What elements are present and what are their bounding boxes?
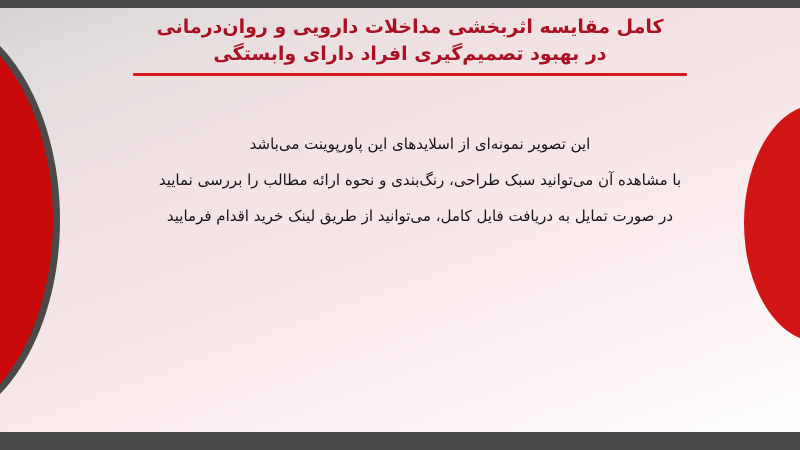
- slide-body-text: این تصویر نمونه‌ای از اسلایدهای این پاور…: [120, 126, 720, 234]
- title-line-1: کامل مقایسه اثربخشی مداخلات دارویی و روا…: [110, 14, 710, 41]
- right-red-oval-decoration: [744, 104, 800, 342]
- body-line-2: با مشاهده آن می‌توانید سبک طراحی، رنگ‌بن…: [120, 162, 720, 198]
- title-line-2: در بهبود تصمیم‌گیری افراد دارای وابستگی: [110, 41, 710, 68]
- title-underline-rule: [133, 73, 687, 76]
- presentation-slide: کامل مقایسه اثربخشی مداخلات دارویی و روا…: [0, 0, 800, 450]
- slide-panel: کامل مقایسه اثربخشی مداخلات دارویی و روا…: [0, 8, 800, 432]
- left-red-oval-fill: [0, 17, 52, 423]
- slide-title: کامل مقایسه اثربخشی مداخلات دارویی و روا…: [110, 14, 710, 76]
- body-line-1: این تصویر نمونه‌ای از اسلایدهای این پاور…: [120, 126, 720, 162]
- body-line-3: در صورت تمایل به دریافت فایل کامل، می‌تو…: [120, 198, 720, 234]
